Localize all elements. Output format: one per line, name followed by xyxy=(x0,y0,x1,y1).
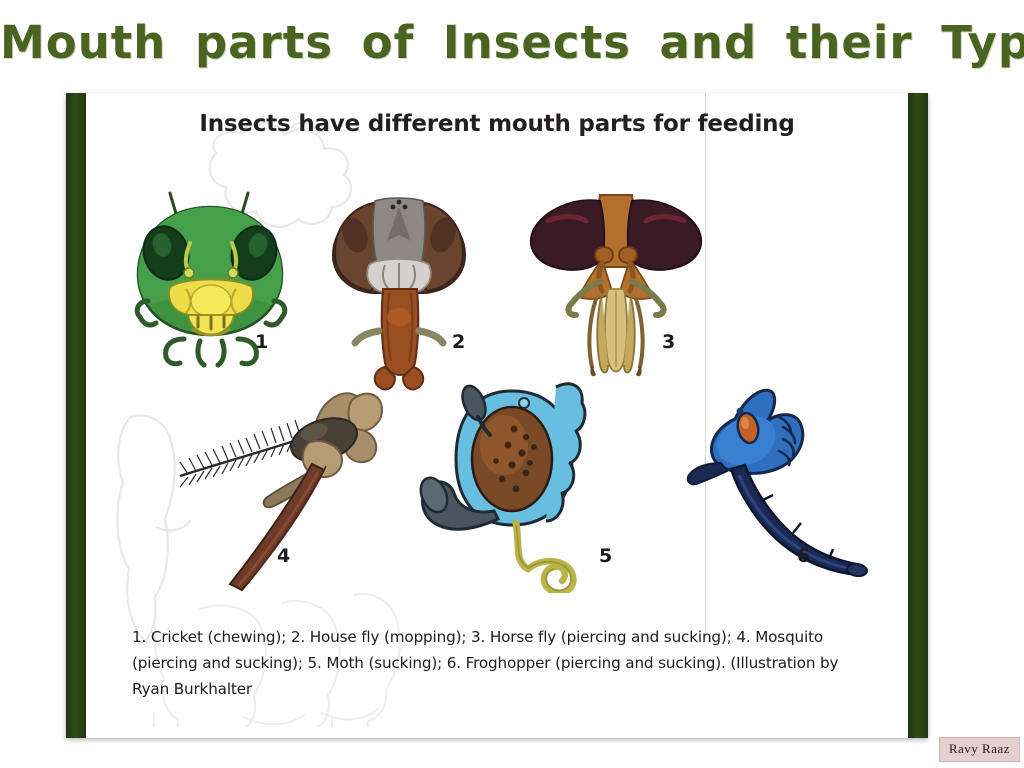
figure-number-6: 6 xyxy=(797,545,810,567)
caption-line-1: 1. Cricket (chewing); 2. House fly (mopp… xyxy=(132,624,890,650)
caption-line-2: (piercing and sucking); 5. Moth (sucking… xyxy=(132,650,890,676)
frame-bar-left xyxy=(66,93,86,738)
figure-cricket xyxy=(122,189,302,369)
figure-moth xyxy=(416,373,616,593)
figure-number-5: 5 xyxy=(599,545,612,567)
caption-line-3: Ryan Burkhalter xyxy=(132,676,890,702)
illustration-panel: Insects have different mouth parts for f… xyxy=(66,93,928,738)
figure-number-4: 4 xyxy=(277,545,290,567)
watermark-badge: Ravy Raaz xyxy=(939,737,1020,762)
figure-number-1: 1 xyxy=(255,331,268,353)
illustration-canvas: Insects have different mouth parts for f… xyxy=(86,93,908,738)
figure-froghopper xyxy=(669,383,879,583)
figure-horse-fly xyxy=(526,189,706,379)
figure-house-fly xyxy=(329,193,469,393)
figure-number-2: 2 xyxy=(452,331,465,353)
figure-number-3: 3 xyxy=(662,331,675,353)
page-title: Mouth parts of Insects and their Types xyxy=(0,16,1024,69)
panel-heading: Insects have different mouth parts for f… xyxy=(86,111,908,137)
figure-caption: 1. Cricket (chewing); 2. House fly (mopp… xyxy=(132,624,890,702)
figure-mosquito xyxy=(166,378,386,593)
frame-bar-right xyxy=(908,93,928,738)
